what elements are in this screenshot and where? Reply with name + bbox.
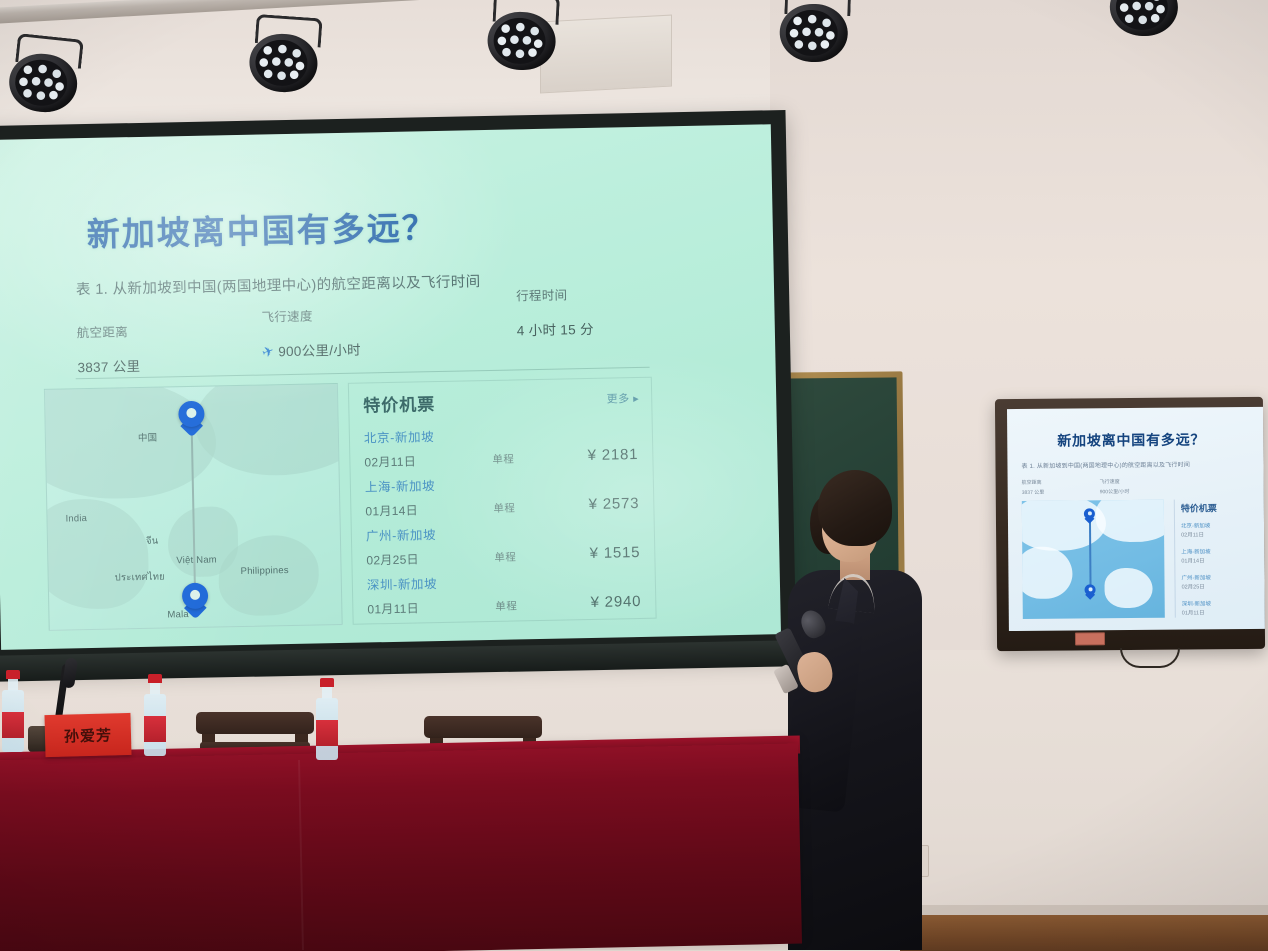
lecture-hall-scene: 新加坡离中国有多远？ 表 1. 从新加坡到中国(两国地理中心)的航空距离以及飞行… xyxy=(0,0,1268,951)
wooden-floor xyxy=(900,915,1268,951)
ticket-date: 01月14日 xyxy=(365,501,418,519)
stat-distance: 航空距离 3837 公里 xyxy=(77,321,141,376)
ticket-date: 02月11日 xyxy=(364,452,416,470)
ticket-type: 单程 xyxy=(493,500,515,515)
ticket-type: 单程 xyxy=(494,549,516,564)
stat-distance-label: 航空距离 xyxy=(77,321,140,341)
table-caption: 表 1. 从新加坡到中国(两国地理中心)的航空距离以及飞行时间 xyxy=(76,270,481,299)
presenter-hair xyxy=(818,470,892,546)
monitor-tickets-heading: 特价机票 xyxy=(1181,501,1217,514)
monitor-stat-label: 航空距离 xyxy=(1022,479,1042,486)
ticket-price: ¥ 2181 xyxy=(587,446,638,464)
monitor-ticket-date: 02月25日 xyxy=(1182,582,1205,590)
tickets-heading: 特价机票 xyxy=(363,390,435,416)
projection-surface: 新加坡离中国有多远？ 表 1. 从新加坡到中国(两国地理中心)的航空距离以及飞行… xyxy=(0,124,781,650)
landmass xyxy=(1022,547,1073,599)
stat-duration-label: 行程时间 xyxy=(516,284,593,305)
stat-distance-value: 3837 公里 xyxy=(77,355,140,376)
monitor-map xyxy=(1022,500,1165,619)
monitor-ticket-route: 北京-新加坡 xyxy=(1181,521,1210,529)
map-label-vietnam: Việt Nam xyxy=(176,554,217,566)
map-label-thai-cn: จีน xyxy=(146,534,159,549)
map-label-thailand: ประเทศไทย xyxy=(115,570,165,586)
ticket-type: 单程 xyxy=(495,598,517,613)
presentation-slide: 新加坡离中国有多远？ 表 1. 从新加坡到中国(两国地理中心)的航空距离以及飞行… xyxy=(13,143,762,636)
stat-speed-label: 飞行速度 xyxy=(261,305,360,326)
ticket-price: ¥ 2573 xyxy=(588,495,639,513)
stage-light-icon xyxy=(4,32,84,117)
landmass xyxy=(194,383,342,477)
ticket-price: ¥ 1515 xyxy=(589,544,640,562)
ticket-date: 02月25日 xyxy=(366,550,419,568)
monitor-title: 新加坡离中国有多远？ xyxy=(1057,429,1205,450)
stat-speed-value-wrap: ✈900公里/小时 xyxy=(262,339,361,361)
name-placard-text: 孙爱芳 xyxy=(64,724,113,746)
wall-monitor-screen: 新加坡离中国有多远？ 表 1. 从新加坡到中国(两国地理中心)的航空距离以及飞行… xyxy=(1007,407,1265,631)
water-bottle[interactable] xyxy=(0,670,26,752)
singapore-pin-icon[interactable] xyxy=(182,583,209,618)
water-bottle[interactable] xyxy=(314,678,340,760)
monitor-ticket-date: 01月14日 xyxy=(1181,556,1204,564)
stat-duration-value: 4 小时 15 分 xyxy=(517,318,594,340)
ticket-type: 单程 xyxy=(492,451,514,466)
stage-light-icon xyxy=(777,0,852,65)
projection-screen: 新加坡离中国有多远？ 表 1. 从新加坡到中国(两国地理中心)的航空距离以及飞行… xyxy=(0,110,796,671)
monitor-ticket-route: 广州-新加坡 xyxy=(1181,573,1210,581)
singapore-pin-icon xyxy=(1085,584,1096,599)
stat-speed: 飞行速度 ✈900公里/小时 xyxy=(261,305,361,361)
table-row[interactable]: 深圳-新加坡 01月11日 单程 ¥ 2940 xyxy=(367,569,644,627)
map-label-philippines: Philippines xyxy=(240,565,288,577)
cheap-tickets-panel: 特价机票 更多 ▸ 北京-新加坡 02月11日 单程 ¥ 2181 上海-新加坡 xyxy=(348,377,657,625)
landmass xyxy=(167,506,238,577)
landmass xyxy=(1096,500,1165,543)
stage-light-icon xyxy=(245,14,322,97)
stat-speed-value: 900公里/小时 xyxy=(278,343,361,360)
page-title: 新加坡离中国有多远？ xyxy=(86,201,437,256)
stage-light-icon xyxy=(1107,0,1180,39)
stat-duration: 行程时间 4 小时 15 分 xyxy=(516,284,594,340)
ticket-route: 北京-新加坡 xyxy=(364,422,640,447)
flight-stats-row: 航空距离 3837 公里 飞行速度 ✈900公里/小时 行程时间 4 小时 15… xyxy=(76,296,677,370)
monitor-stat-value: 900公里/小时 xyxy=(1100,488,1130,495)
head-table xyxy=(0,744,802,951)
monitor-ticket-route: 深圳-新加坡 xyxy=(1182,599,1211,607)
divider xyxy=(76,367,650,380)
wall-monitor[interactable]: 新加坡离中国有多远？ 表 1. 从新加坡到中国(两国地理中心)的航空距离以及飞行… xyxy=(995,397,1265,651)
monitor-ticket-date: 01月11日 xyxy=(1182,608,1205,616)
map-label-india: India xyxy=(65,513,87,524)
stage-light-icon xyxy=(484,0,560,74)
route-map[interactable]: 中国 India จีน Việt Nam ประเทศไทย Philippi… xyxy=(44,383,343,631)
more-link[interactable]: 更多 ▸ xyxy=(606,390,639,407)
ceiling-vent xyxy=(540,15,672,94)
monitor-tickets-panel: 特价机票 北京-新加坡 02月11日 上海-新加坡 01月14日 广州-新加坡 … xyxy=(1174,499,1265,618)
monitor-stat-label: 飞行速度 xyxy=(1100,478,1120,485)
monitor-ticket-date: 02月11日 xyxy=(1181,530,1204,538)
ticket-price: ¥ 2940 xyxy=(590,593,641,611)
water-bottle[interactable] xyxy=(142,674,168,756)
ticket-date: 01月11日 xyxy=(367,599,419,617)
landmass xyxy=(1104,568,1152,608)
map-label-china: 中国 xyxy=(138,430,158,444)
monitor-caption: 表 1. 从新加坡到中国(两国地理中心)的航空距离以及飞行时间 xyxy=(1021,459,1190,469)
monitor-stat-value: 3837 公里 xyxy=(1022,489,1045,496)
name-placard: 孙爱芳 xyxy=(44,713,131,757)
landmass xyxy=(44,498,149,610)
monitor-ticket-route: 上海-新加坡 xyxy=(1181,547,1210,555)
china-pin-icon[interactable] xyxy=(178,401,205,436)
monitor-brand-badge xyxy=(1075,632,1105,645)
airplane-icon: ✈ xyxy=(260,342,277,362)
china-pin-icon xyxy=(1084,508,1095,523)
